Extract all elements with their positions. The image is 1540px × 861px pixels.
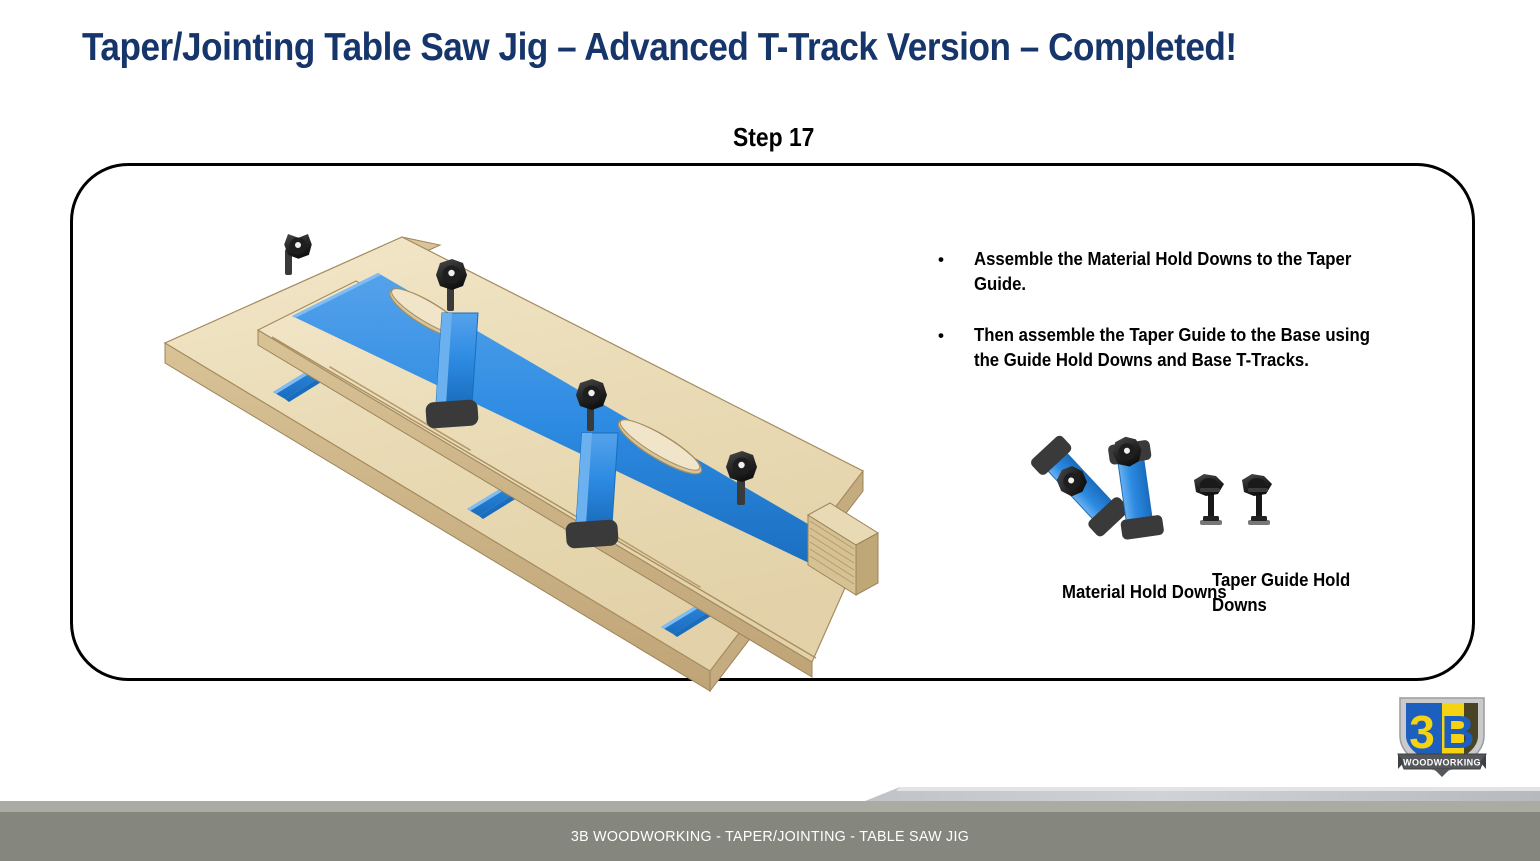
instruction-text: Assemble the Material Hold Downs to the …	[974, 247, 1387, 297]
taper-guide-hold-downs-illustration	[1188, 468, 1288, 540]
t-bolt-knob-2	[1242, 474, 1272, 525]
taper-guide-hold-downs-label: Taper Guide Hold Downs	[1212, 568, 1398, 618]
logo-mark-b: B	[1441, 706, 1474, 758]
slide-canvas: Taper/Jointing Table Saw Jig – Advanced …	[0, 0, 1540, 861]
logo-banner-text: WOODWORKING	[1403, 758, 1481, 768]
list-item: • Then assemble the Taper Guide to the B…	[938, 323, 1418, 373]
hold-down-clamp-right	[1107, 433, 1165, 540]
jig-illustration	[140, 215, 880, 695]
brand-logo-svg: 3 B WOODWORKING	[1392, 692, 1492, 778]
brand-logo: 3 B WOODWORKING	[1392, 692, 1492, 778]
bullet-icon: •	[938, 323, 974, 373]
logo-mark-3: 3	[1409, 706, 1435, 758]
footer-strip	[0, 801, 1540, 812]
material-hold-downs-label: Material Hold Downs	[1062, 580, 1229, 605]
instruction-list: • Assemble the Material Hold Downs to th…	[938, 247, 1418, 399]
list-item: • Assemble the Material Hold Downs to th…	[938, 247, 1418, 297]
bullet-icon: •	[938, 247, 974, 297]
material-hold-downs-illustration	[1030, 432, 1170, 552]
footer-text: 3B WOODWORKING - TAPER/JOINTING - TABLE …	[39, 828, 1502, 845]
t-bolt-knob-1	[1194, 474, 1224, 525]
step-heading: Step 17	[733, 122, 814, 153]
instruction-text: Then assemble the Taper Guide to the Bas…	[974, 323, 1387, 373]
jig-svg	[140, 215, 880, 695]
guide-hold-down-knob-1	[284, 234, 312, 275]
taper-guide-hold-downs-svg	[1188, 468, 1288, 540]
page-title: Taper/Jointing Table Saw Jig – Advanced …	[82, 22, 1162, 74]
material-hold-downs-svg	[1030, 432, 1170, 552]
